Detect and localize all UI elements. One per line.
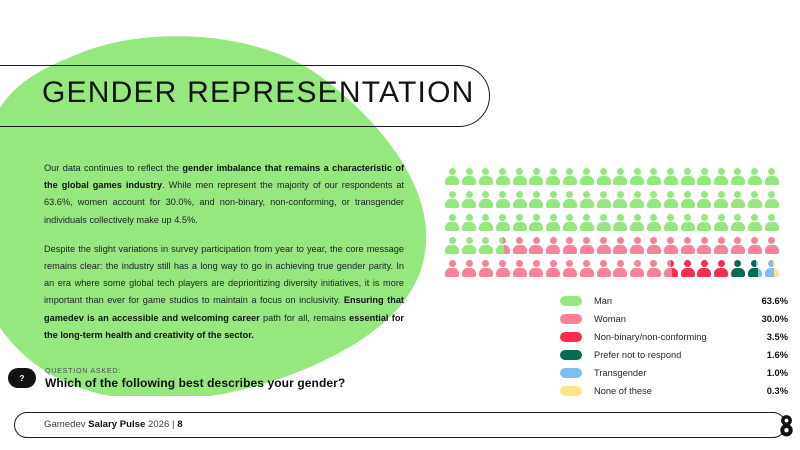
- person-body: [681, 176, 695, 185]
- pictogram-row: [444, 191, 780, 210]
- person-body: [479, 245, 493, 254]
- legend-value: 30.0%: [762, 314, 788, 324]
- legend-label: Man: [594, 296, 762, 306]
- person-head: [734, 237, 741, 244]
- person-body: [445, 245, 459, 254]
- person-body: [597, 245, 611, 254]
- person-icon: [763, 168, 780, 187]
- person-head: [583, 191, 590, 198]
- person-body: [697, 199, 711, 208]
- person-icon: [494, 191, 511, 210]
- person-head: [684, 214, 691, 221]
- person-icon: [511, 237, 528, 256]
- person-body: [714, 222, 728, 231]
- person-icon: [578, 214, 595, 233]
- person-icon: [713, 168, 730, 187]
- person-head: [617, 168, 624, 175]
- person-icon: [746, 237, 763, 256]
- person-icon: [713, 191, 730, 210]
- person-body: [697, 268, 711, 277]
- person-icon: [478, 237, 495, 256]
- person-head: [734, 214, 741, 221]
- person-head: [482, 214, 489, 221]
- brand-logo-icon: [779, 412, 794, 438]
- person-icon: [713, 214, 730, 233]
- person-icon: [545, 214, 562, 233]
- person-icon: [746, 168, 763, 187]
- person-body: [664, 199, 678, 208]
- person-icon: [612, 237, 629, 256]
- question-texts: QUESTION ASKED: Which of the following b…: [45, 366, 345, 390]
- person-body: [462, 245, 476, 254]
- person-head: [684, 260, 691, 267]
- person-icon: [713, 237, 730, 256]
- person-body: [546, 222, 560, 231]
- person-body: [445, 176, 459, 185]
- person-body: [546, 199, 560, 208]
- person-head: [533, 191, 540, 198]
- person-body: [714, 268, 728, 277]
- person-head: [718, 191, 725, 198]
- person-body: [445, 268, 459, 277]
- person-head: [600, 168, 607, 175]
- person-icon: [763, 237, 780, 256]
- person-head: [449, 237, 456, 244]
- person-icon: [595, 168, 612, 187]
- question-text: Which of the following best describes yo…: [45, 376, 345, 390]
- person-icon: [612, 260, 629, 279]
- legend-label: None of these: [594, 386, 767, 396]
- person-icon: [730, 237, 747, 256]
- person-head: [449, 260, 456, 267]
- paragraph-2: Despite the slight variations in survey …: [44, 241, 404, 344]
- person-head: [617, 214, 624, 221]
- legend-value: 3.5%: [767, 332, 788, 342]
- body-copy: Our data continues to reflect the gender…: [44, 160, 404, 344]
- person-icon: [578, 191, 595, 210]
- person-body: [546, 245, 560, 254]
- question-mark-icon: ?: [8, 368, 36, 388]
- person-head: [482, 237, 489, 244]
- person-body: [613, 199, 627, 208]
- person-body: [714, 245, 728, 254]
- person-body: [630, 176, 644, 185]
- footer-text: Gamedev Salary Pulse 2026 | 8: [44, 419, 183, 430]
- person-icon: [696, 191, 713, 210]
- person-head: [617, 237, 624, 244]
- person-icon: [478, 191, 495, 210]
- person-body: [496, 245, 510, 254]
- person-head: [516, 260, 523, 267]
- person-body: [496, 199, 510, 208]
- person-body: [479, 176, 493, 185]
- person-icon: [494, 214, 511, 233]
- legend-label: Non-binary/non-conforming: [594, 332, 767, 342]
- person-head: [583, 214, 590, 221]
- person-head: [550, 191, 557, 198]
- person-body: [765, 245, 779, 254]
- person-icon: [662, 168, 679, 187]
- person-body: [681, 199, 695, 208]
- person-head: [583, 168, 590, 175]
- person-icon: [746, 214, 763, 233]
- legend-swatch: [560, 332, 582, 342]
- person-icon: [612, 168, 629, 187]
- person-head: [634, 168, 641, 175]
- footer-page-number: 8: [177, 419, 182, 430]
- person-icon: [679, 260, 696, 279]
- person-body: [681, 245, 695, 254]
- person-head: [600, 237, 607, 244]
- person-head: [533, 168, 540, 175]
- person-head: [499, 191, 506, 198]
- person-head: [566, 214, 573, 221]
- person-body: [580, 199, 594, 208]
- person-icon: [478, 168, 495, 187]
- person-head: [734, 191, 741, 198]
- question-asked-block: ? QUESTION ASKED: Which of the following…: [8, 366, 345, 390]
- person-icon: [746, 191, 763, 210]
- person-head: [718, 260, 725, 267]
- legend-swatch: [560, 368, 582, 378]
- person-head: [516, 214, 523, 221]
- legend-value: 1.6%: [767, 350, 788, 360]
- person-head: [499, 168, 506, 175]
- person-icon: [679, 237, 696, 256]
- person-head: [550, 260, 557, 267]
- person-icon: [696, 237, 713, 256]
- legend-item[interactable]: None of these0.3%: [560, 382, 788, 400]
- person-icon: [612, 191, 629, 210]
- person-head: [650, 214, 657, 221]
- person-icon: [444, 214, 461, 233]
- person-body: [731, 199, 745, 208]
- person-body: [714, 176, 728, 185]
- person-body: [630, 268, 644, 277]
- person-body: [529, 199, 543, 208]
- person-icon: [662, 237, 679, 256]
- chart-legend: Man63.6%Woman30.0%Non-binary/non-conform…: [560, 292, 788, 400]
- person-icon: [528, 191, 545, 210]
- person-body: [765, 199, 779, 208]
- person-body: [664, 245, 678, 254]
- person-body: [630, 199, 644, 208]
- person-head: [583, 260, 590, 267]
- person-head: [650, 260, 657, 267]
- person-body: [697, 222, 711, 231]
- person-body: [630, 222, 644, 231]
- person-body: [664, 268, 678, 277]
- person-icon: [595, 214, 612, 233]
- person-body: [479, 268, 493, 277]
- person-icon: [511, 260, 528, 279]
- person-head: [466, 214, 473, 221]
- person-head: [634, 191, 641, 198]
- person-body: [563, 245, 577, 254]
- person-body: [580, 222, 594, 231]
- person-body: [462, 222, 476, 231]
- person-icon: [713, 260, 730, 279]
- person-head: [466, 168, 473, 175]
- person-head: [701, 214, 708, 221]
- person-icon: [730, 168, 747, 187]
- legend-item[interactable]: Transgender1.0%: [560, 364, 788, 382]
- person-head: [667, 237, 674, 244]
- person-body: [748, 176, 762, 185]
- legend-value: 0.3%: [767, 386, 788, 396]
- person-body: [731, 176, 745, 185]
- legend-item[interactable]: Prefer not to respond1.6%: [560, 346, 788, 364]
- person-icon: [730, 214, 747, 233]
- person-body: [513, 199, 527, 208]
- person-icon: [662, 191, 679, 210]
- person-head: [449, 191, 456, 198]
- person-head: [751, 260, 758, 267]
- footer-brand: Gamedev: [44, 419, 88, 430]
- person-head: [701, 191, 708, 198]
- person-head: [516, 237, 523, 244]
- person-icon: [696, 168, 713, 187]
- person-icon: [662, 260, 679, 279]
- person-body: [496, 222, 510, 231]
- person-body: [731, 268, 745, 277]
- person-icon: [461, 168, 478, 187]
- person-icon: [444, 168, 461, 187]
- person-body: [513, 268, 527, 277]
- person-icon: [494, 237, 511, 256]
- person-body: [765, 222, 779, 231]
- person-icon: [629, 191, 646, 210]
- person-head: [718, 237, 725, 244]
- footer-year: 2026: [145, 419, 172, 430]
- person-body: [529, 222, 543, 231]
- person-body: [765, 268, 779, 277]
- legend-item[interactable]: Woman30.0%: [560, 310, 788, 328]
- person-head: [533, 214, 540, 221]
- person-icon: [646, 260, 663, 279]
- page-title: GENDER REPRESENTATION: [42, 76, 474, 110]
- person-body: [580, 245, 594, 254]
- person-body: [613, 268, 627, 277]
- person-head: [482, 260, 489, 267]
- person-head: [718, 214, 725, 221]
- person-head: [684, 237, 691, 244]
- person-icon: [730, 260, 747, 279]
- legend-label: Woman: [594, 314, 762, 324]
- person-body: [445, 199, 459, 208]
- person-body: [546, 268, 560, 277]
- person-head: [650, 168, 657, 175]
- person-icon: [461, 260, 478, 279]
- person-body: [513, 176, 527, 185]
- legend-item[interactable]: Man63.6%: [560, 292, 788, 310]
- person-body: [529, 268, 543, 277]
- person-icon: [528, 168, 545, 187]
- person-head: [634, 237, 641, 244]
- person-icon: [562, 168, 579, 187]
- person-body: [445, 222, 459, 231]
- person-icon: [646, 214, 663, 233]
- person-icon: [595, 260, 612, 279]
- person-body: [748, 222, 762, 231]
- person-icon: [562, 237, 579, 256]
- person-body: [647, 199, 661, 208]
- person-icon: [511, 168, 528, 187]
- person-icon: [646, 168, 663, 187]
- person-body: [563, 176, 577, 185]
- legend-swatch: [560, 350, 582, 360]
- person-body: [613, 176, 627, 185]
- person-body: [496, 176, 510, 185]
- legend-item[interactable]: Non-binary/non-conforming3.5%: [560, 328, 788, 346]
- person-body: [513, 222, 527, 231]
- legend-swatch: [560, 314, 582, 324]
- person-head: [768, 214, 775, 221]
- person-icon: [629, 214, 646, 233]
- person-body: [479, 199, 493, 208]
- pictogram-row: [444, 237, 780, 256]
- person-head: [667, 214, 674, 221]
- person-body: [664, 176, 678, 185]
- person-icon: [746, 260, 763, 279]
- person-icon: [679, 214, 696, 233]
- person-head: [617, 260, 624, 267]
- person-icon: [629, 168, 646, 187]
- person-body: [580, 176, 594, 185]
- person-body: [546, 176, 560, 185]
- person-body: [597, 199, 611, 208]
- person-head: [533, 260, 540, 267]
- person-body: [731, 245, 745, 254]
- person-head: [499, 260, 506, 267]
- person-head: [701, 237, 708, 244]
- person-icon: [595, 191, 612, 210]
- person-head: [550, 237, 557, 244]
- person-body: [597, 222, 611, 231]
- person-icon: [578, 237, 595, 256]
- person-icon: [528, 237, 545, 256]
- person-icon: [545, 191, 562, 210]
- person-head: [634, 214, 641, 221]
- person-body: [714, 199, 728, 208]
- legend-swatch: [560, 386, 582, 396]
- pictogram-row: [444, 260, 780, 279]
- person-icon: [696, 214, 713, 233]
- person-icon: [494, 168, 511, 187]
- person-head: [751, 214, 758, 221]
- person-icon: [478, 214, 495, 233]
- person-head: [566, 260, 573, 267]
- person-body: [479, 222, 493, 231]
- person-head: [466, 260, 473, 267]
- person-icon: [562, 191, 579, 210]
- person-icon: [578, 168, 595, 187]
- question-label: QUESTION ASKED:: [45, 366, 345, 375]
- person-head: [600, 260, 607, 267]
- person-icon: [461, 214, 478, 233]
- person-icon: [662, 214, 679, 233]
- person-head: [600, 191, 607, 198]
- legend-value: 63.6%: [762, 296, 788, 306]
- slide-canvas: GENDER REPRESENTATION Our data continues…: [0, 0, 800, 450]
- person-body: [597, 176, 611, 185]
- person-head: [701, 260, 708, 267]
- person-head: [516, 168, 523, 175]
- person-icon: [528, 260, 545, 279]
- person-icon: [629, 260, 646, 279]
- person-body: [529, 176, 543, 185]
- person-head: [482, 168, 489, 175]
- person-body: [529, 245, 543, 254]
- person-head: [550, 214, 557, 221]
- person-head: [718, 168, 725, 175]
- person-body: [563, 199, 577, 208]
- person-head: [449, 214, 456, 221]
- person-icon: [444, 191, 461, 210]
- person-head: [768, 237, 775, 244]
- person-body: [647, 245, 661, 254]
- person-body: [462, 176, 476, 185]
- person-head: [499, 237, 506, 244]
- person-head: [768, 260, 775, 267]
- person-head: [600, 214, 607, 221]
- person-body: [597, 268, 611, 277]
- person-icon: [511, 191, 528, 210]
- person-icon: [629, 237, 646, 256]
- person-head: [482, 191, 489, 198]
- person-icon: [545, 237, 562, 256]
- person-body: [513, 245, 527, 254]
- person-body: [563, 268, 577, 277]
- footer-product: Salary Pulse: [88, 419, 145, 430]
- person-body: [681, 268, 695, 277]
- legend-label: Transgender: [594, 368, 767, 378]
- person-icon: [679, 191, 696, 210]
- person-body: [748, 199, 762, 208]
- person-body: [647, 222, 661, 231]
- person-body: [731, 222, 745, 231]
- person-icon: [763, 191, 780, 210]
- person-body: [613, 222, 627, 231]
- person-icon: [562, 214, 579, 233]
- person-icon: [646, 237, 663, 256]
- person-icon: [646, 191, 663, 210]
- person-body: [748, 245, 762, 254]
- person-body: [765, 176, 779, 185]
- pictogram-row: [444, 168, 780, 187]
- person-head: [650, 191, 657, 198]
- person-body: [613, 245, 627, 254]
- person-head: [617, 191, 624, 198]
- person-head: [768, 191, 775, 198]
- person-icon: [461, 191, 478, 210]
- person-icon: [595, 237, 612, 256]
- person-head: [667, 168, 674, 175]
- person-icon: [562, 260, 579, 279]
- legend-label: Prefer not to respond: [594, 350, 767, 360]
- person-head: [466, 237, 473, 244]
- person-body: [462, 268, 476, 277]
- person-body: [647, 176, 661, 185]
- person-head: [516, 191, 523, 198]
- person-head: [650, 237, 657, 244]
- person-icon: [578, 260, 595, 279]
- person-body: [580, 268, 594, 277]
- person-icon: [612, 214, 629, 233]
- legend-swatch: [560, 296, 582, 306]
- person-body: [496, 268, 510, 277]
- person-body: [664, 222, 678, 231]
